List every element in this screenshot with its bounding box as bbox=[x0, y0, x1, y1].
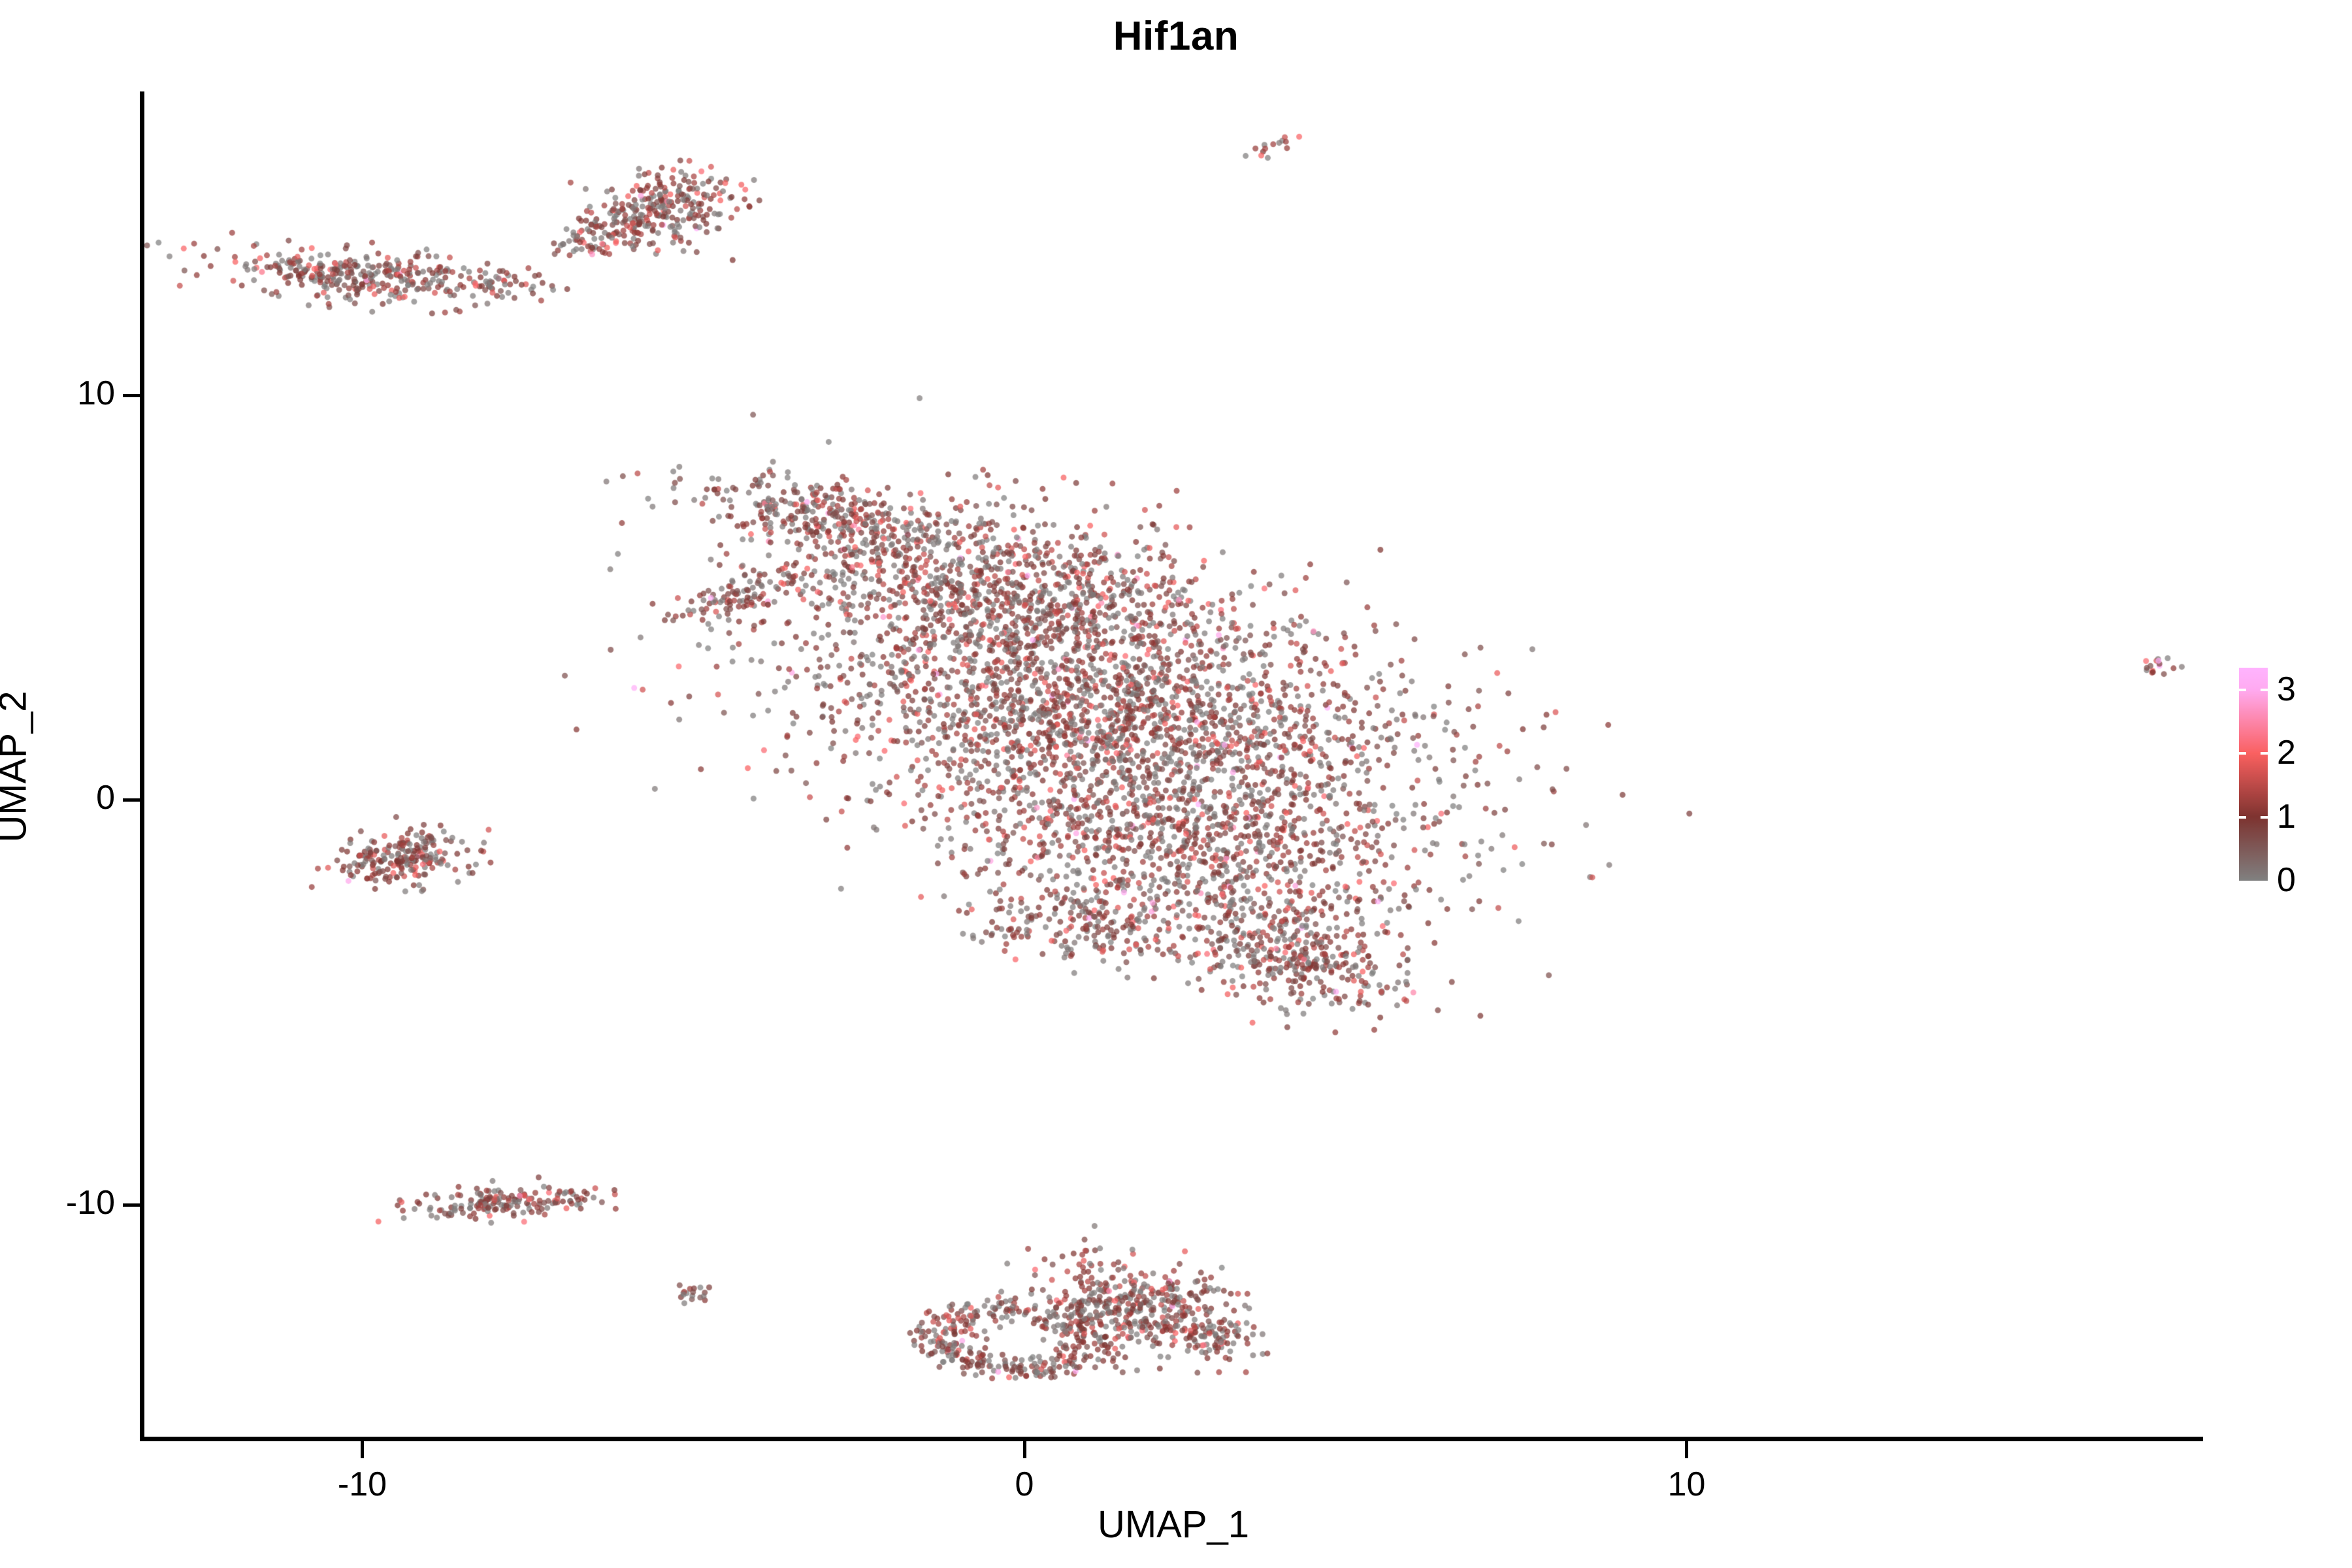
y-tick-mark bbox=[123, 1203, 140, 1207]
y-tick-mark bbox=[123, 394, 140, 397]
colorbar-legend: 0123 bbox=[2239, 668, 2337, 883]
x-tick-label: 10 bbox=[1621, 1465, 1752, 1504]
colorbar-tick-mark bbox=[2239, 689, 2246, 691]
x-tick-label: 0 bbox=[959, 1465, 1090, 1504]
x-tick-label: -10 bbox=[297, 1465, 427, 1504]
plot-panel bbox=[144, 91, 2203, 1439]
x-tick-mark bbox=[361, 1441, 364, 1458]
colorbar-gradient bbox=[2239, 668, 2268, 881]
colorbar-tick-label: 2 bbox=[2277, 736, 2296, 770]
colorbar-tick-mark bbox=[2261, 752, 2268, 755]
colorbar-tick-mark bbox=[2239, 816, 2246, 819]
y-tick-mark bbox=[123, 798, 140, 802]
x-tick-mark bbox=[1023, 1441, 1026, 1458]
x-tick-mark bbox=[1685, 1441, 1688, 1458]
y-axis-title: UMAP_2 bbox=[0, 81, 35, 1453]
page-title: Hif1an bbox=[0, 13, 2352, 59]
x-axis-title: UMAP_1 bbox=[144, 1503, 2203, 1546]
scatter-points-canvas bbox=[144, 91, 2203, 1439]
colorbar-tick-label: 0 bbox=[2277, 863, 2296, 897]
colorbar-tick-mark bbox=[2261, 689, 2268, 691]
x-axis-line bbox=[140, 1437, 2203, 1441]
colorbar-tick-label: 3 bbox=[2277, 672, 2296, 706]
colorbar-tick-mark bbox=[2239, 752, 2246, 755]
umap-feature-plot: Hif1an -10010 -10010 UMAP_1 UMAP_2 0123 bbox=[0, 0, 2352, 1568]
colorbar-tick-label: 1 bbox=[2277, 800, 2296, 834]
colorbar-tick-mark bbox=[2261, 816, 2268, 819]
y-axis-line bbox=[140, 91, 144, 1441]
